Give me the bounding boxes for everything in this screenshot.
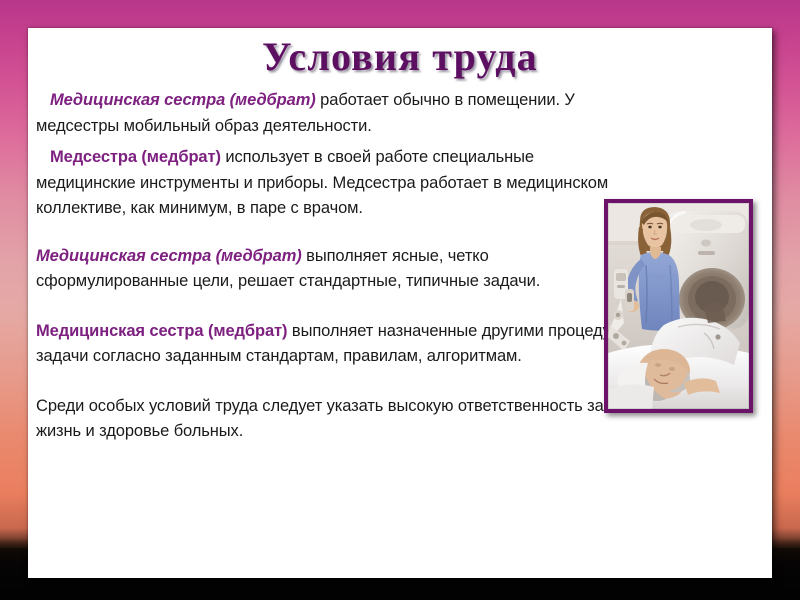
paragraph-5: Среди особых условий труда следует указа…: [36, 394, 636, 445]
body-text-block: Медицинская сестра (медбрат) работает об…: [36, 88, 636, 445]
paragraph-1-lead: Медицинская сестра (медбрат): [50, 91, 316, 109]
slide-background: Условия труда Медицинская сестра (медбра…: [0, 0, 800, 600]
nurse-with-patient-ct-scanner-photo: [604, 199, 753, 413]
paragraph-2-lead: Медсестра (медбрат): [50, 148, 221, 166]
paragraph-4: Медицинская сестра (медбрат) выполняет н…: [36, 319, 636, 370]
spacer-4: [36, 370, 636, 394]
page-title: Условия труда: [28, 34, 772, 80]
paragraph-2: Медсестра (медбрат) использует в своей р…: [36, 145, 636, 222]
paragraph-1: Медицинская сестра (медбрат) работает об…: [36, 88, 636, 139]
photo-image: [608, 203, 749, 409]
paragraph-4-lead: Медицинская сестра (медбрат): [36, 322, 287, 340]
paragraph-3-lead: Медицинская сестра (медбрат): [36, 247, 302, 265]
content-panel: Условия труда Медицинская сестра (медбра…: [28, 28, 772, 578]
spacer-2: [36, 222, 636, 244]
paragraph-5-rest: Среди особых условий труда следует указа…: [36, 397, 604, 441]
paragraph-3: Медицинская сестра (медбрат) выполняет я…: [36, 244, 636, 295]
spacer-3: [36, 295, 636, 319]
